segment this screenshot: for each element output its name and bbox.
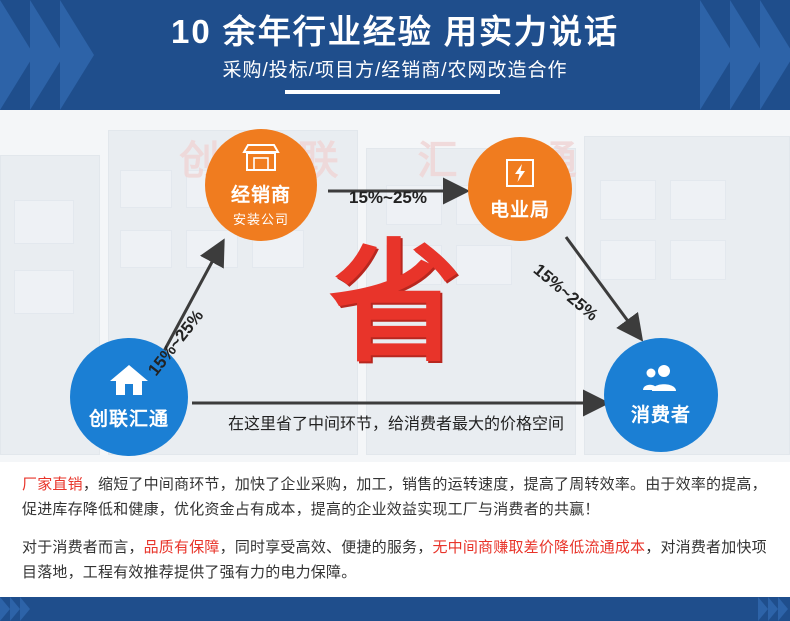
node-dealer-sub: 安装公司	[233, 209, 289, 228]
page-root: 10 余年行业经验 用实力说话 采购/投标/项目方/经销商/农网改造合作 创 联…	[0, 0, 790, 621]
paragraph-2-highlight-1: 品质有保障	[144, 539, 220, 556]
header-underline	[285, 90, 500, 94]
footer-chevron	[0, 597, 10, 621]
header-title: 10 余年行业经验 用实力说话	[0, 10, 790, 54]
footer-chevron	[20, 597, 30, 621]
description-block: 厂家直销，缩短了中间商环节，加快了企业采购，加工，销售的运转速度，提高了周转效率…	[0, 462, 790, 597]
shop-icon	[241, 143, 281, 177]
paragraph-2-highlight-2: 无中间商赚取差价降低流通成本	[432, 539, 645, 556]
header-subtitle: 采购/投标/项目方/经销商/农网改造合作	[0, 58, 790, 84]
node-bureau-label: 电业局	[490, 195, 550, 222]
footer-chevron	[758, 597, 768, 621]
node-bureau[interactable]: 电业局	[468, 137, 572, 241]
footer-chevron	[768, 597, 778, 621]
footer-chevron	[778, 597, 788, 621]
power-building-icon	[503, 156, 537, 192]
paragraph-1: 厂家直销，缩短了中间商环节，加快了企业采购，加工，销售的运转速度，提高了周转效率…	[22, 472, 768, 522]
footer-bar	[0, 597, 790, 621]
paragraph-2: 对于消费者而言，品质有保障，同时享受高效、便捷的服务，无中间商赚取差价降低流通成…	[22, 535, 768, 585]
percent-label-top: 15%~25%	[349, 188, 427, 208]
footer-chevron	[10, 597, 20, 621]
paragraph-1-rest: ，缩短了中间商环节，加快了企业采购，加工，销售的运转速度，提高了周转效率。由于效…	[22, 476, 767, 518]
center-save-character: 省	[0, 238, 790, 370]
paragraph-1-highlight: 厂家直销	[22, 476, 83, 493]
paragraph-2-part1: 对于消费者而言，	[22, 539, 144, 556]
node-dealer[interactable]: 经销商 安装公司	[205, 129, 317, 241]
bottom-arrow-caption: 在这里省了中间环节，给消费者最大的价格空间	[196, 410, 596, 434]
node-dealer-label: 经销商	[231, 180, 291, 207]
node-company-label: 创联汇通	[89, 404, 169, 431]
header-banner: 10 余年行业经验 用实力说话 采购/投标/项目方/经销商/农网改造合作	[0, 0, 790, 110]
flow-diagram: 创 联 汇 通	[0, 110, 790, 462]
node-consumer-label: 消费者	[631, 400, 691, 427]
paragraph-2-part2: ，同时享受高效、便捷的服务，	[220, 539, 433, 556]
